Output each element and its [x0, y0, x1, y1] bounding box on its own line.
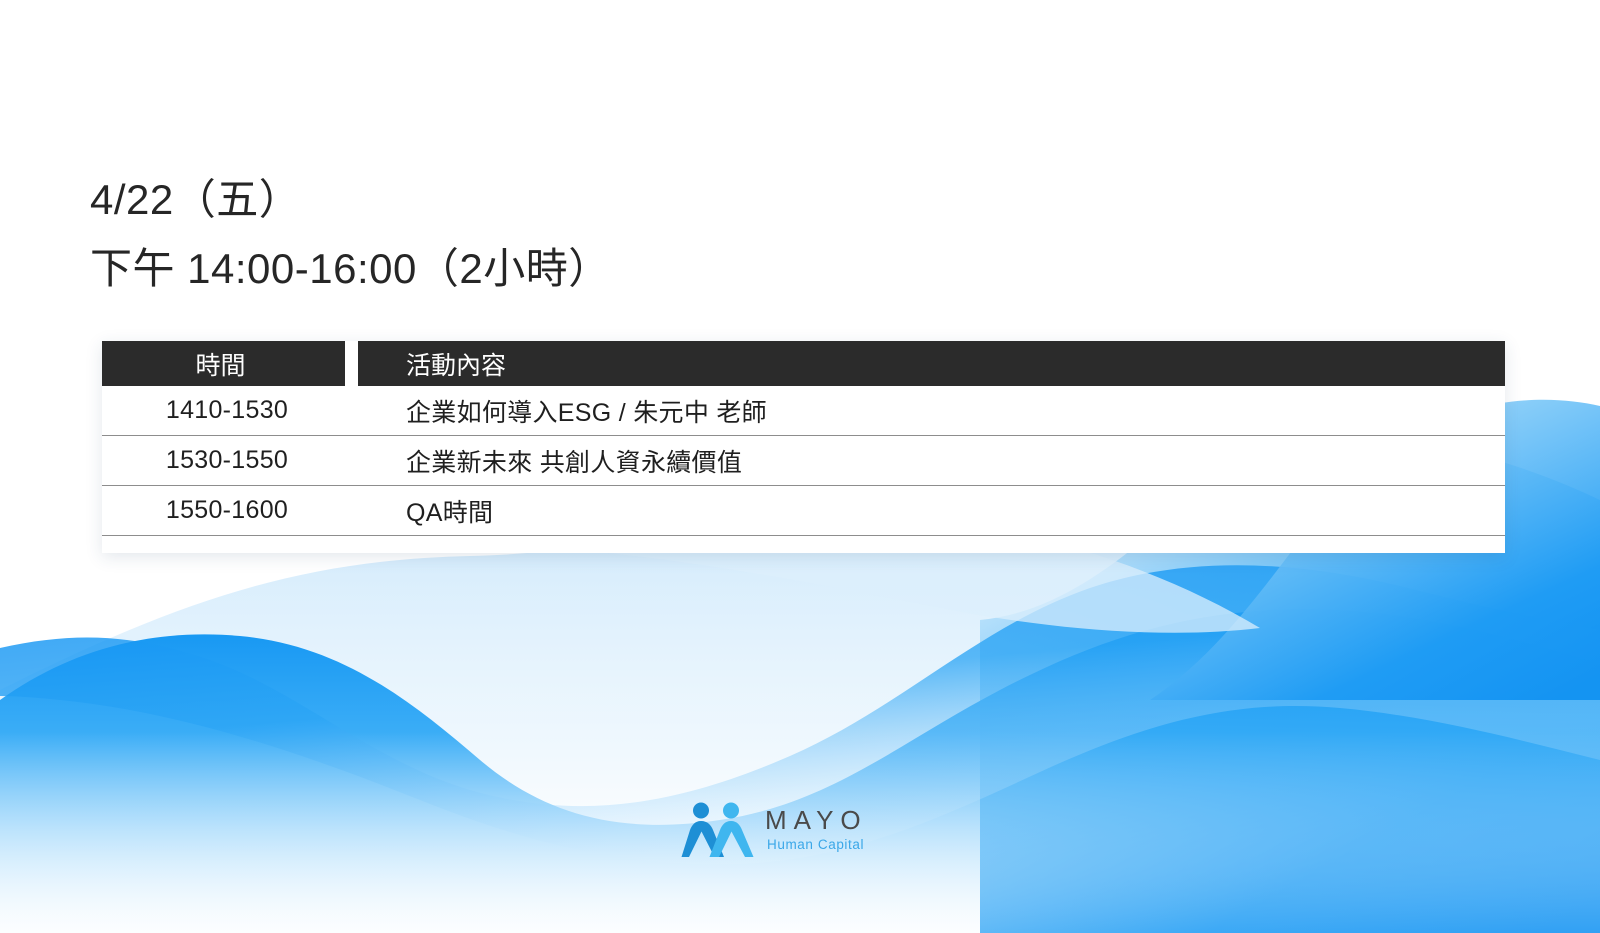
- slide-heading-block: 4/22（五） 下午 14:00-16:00（2小時）: [90, 172, 611, 297]
- table-row: 1410-1530 企業如何導入ESG / 朱元中 老師: [102, 386, 1505, 436]
- mayo-two-people-icon: [681, 801, 755, 859]
- mayo-logo: MAYO Human Capital: [681, 799, 897, 861]
- cell-content: 企業如何導入ESG / 朱元中 老師: [358, 386, 1505, 435]
- session-date: 4/22（五）: [90, 172, 611, 227]
- slide-canvas: 4/22（五） 下午 14:00-16:00（2小時） 時間 活動內容 1410…: [0, 0, 1600, 933]
- logo-text-block: MAYO Human Capital: [765, 807, 868, 852]
- table-header-row: 時間 活動內容: [102, 341, 1505, 386]
- cell-time: 1550-1600: [102, 486, 358, 535]
- column-header-content: 活動內容: [358, 341, 1505, 386]
- logo-wordmark: MAYO: [765, 807, 868, 834]
- cell-time: 1410-1530: [102, 386, 358, 435]
- column-header-time: 時間: [102, 341, 345, 386]
- session-time-range: 下午 14:00-16:00（2小時）: [90, 241, 611, 296]
- schedule-table: 時間 活動內容 1410-1530 企業如何導入ESG / 朱元中 老師 153…: [102, 341, 1505, 553]
- schedule-table-panel: 時間 活動內容 1410-1530 企業如何導入ESG / 朱元中 老師 153…: [102, 341, 1505, 553]
- cell-time: 1530-1550: [102, 436, 358, 485]
- cell-content: QA時間: [358, 486, 1505, 535]
- logo-tagline: Human Capital: [767, 838, 868, 853]
- cell-content: 企業新未來 共創人資永續價值: [358, 436, 1505, 485]
- table-row: 1530-1550 企業新未來 共創人資永續價值: [102, 436, 1505, 486]
- table-row: 1550-1600 QA時間: [102, 486, 1505, 536]
